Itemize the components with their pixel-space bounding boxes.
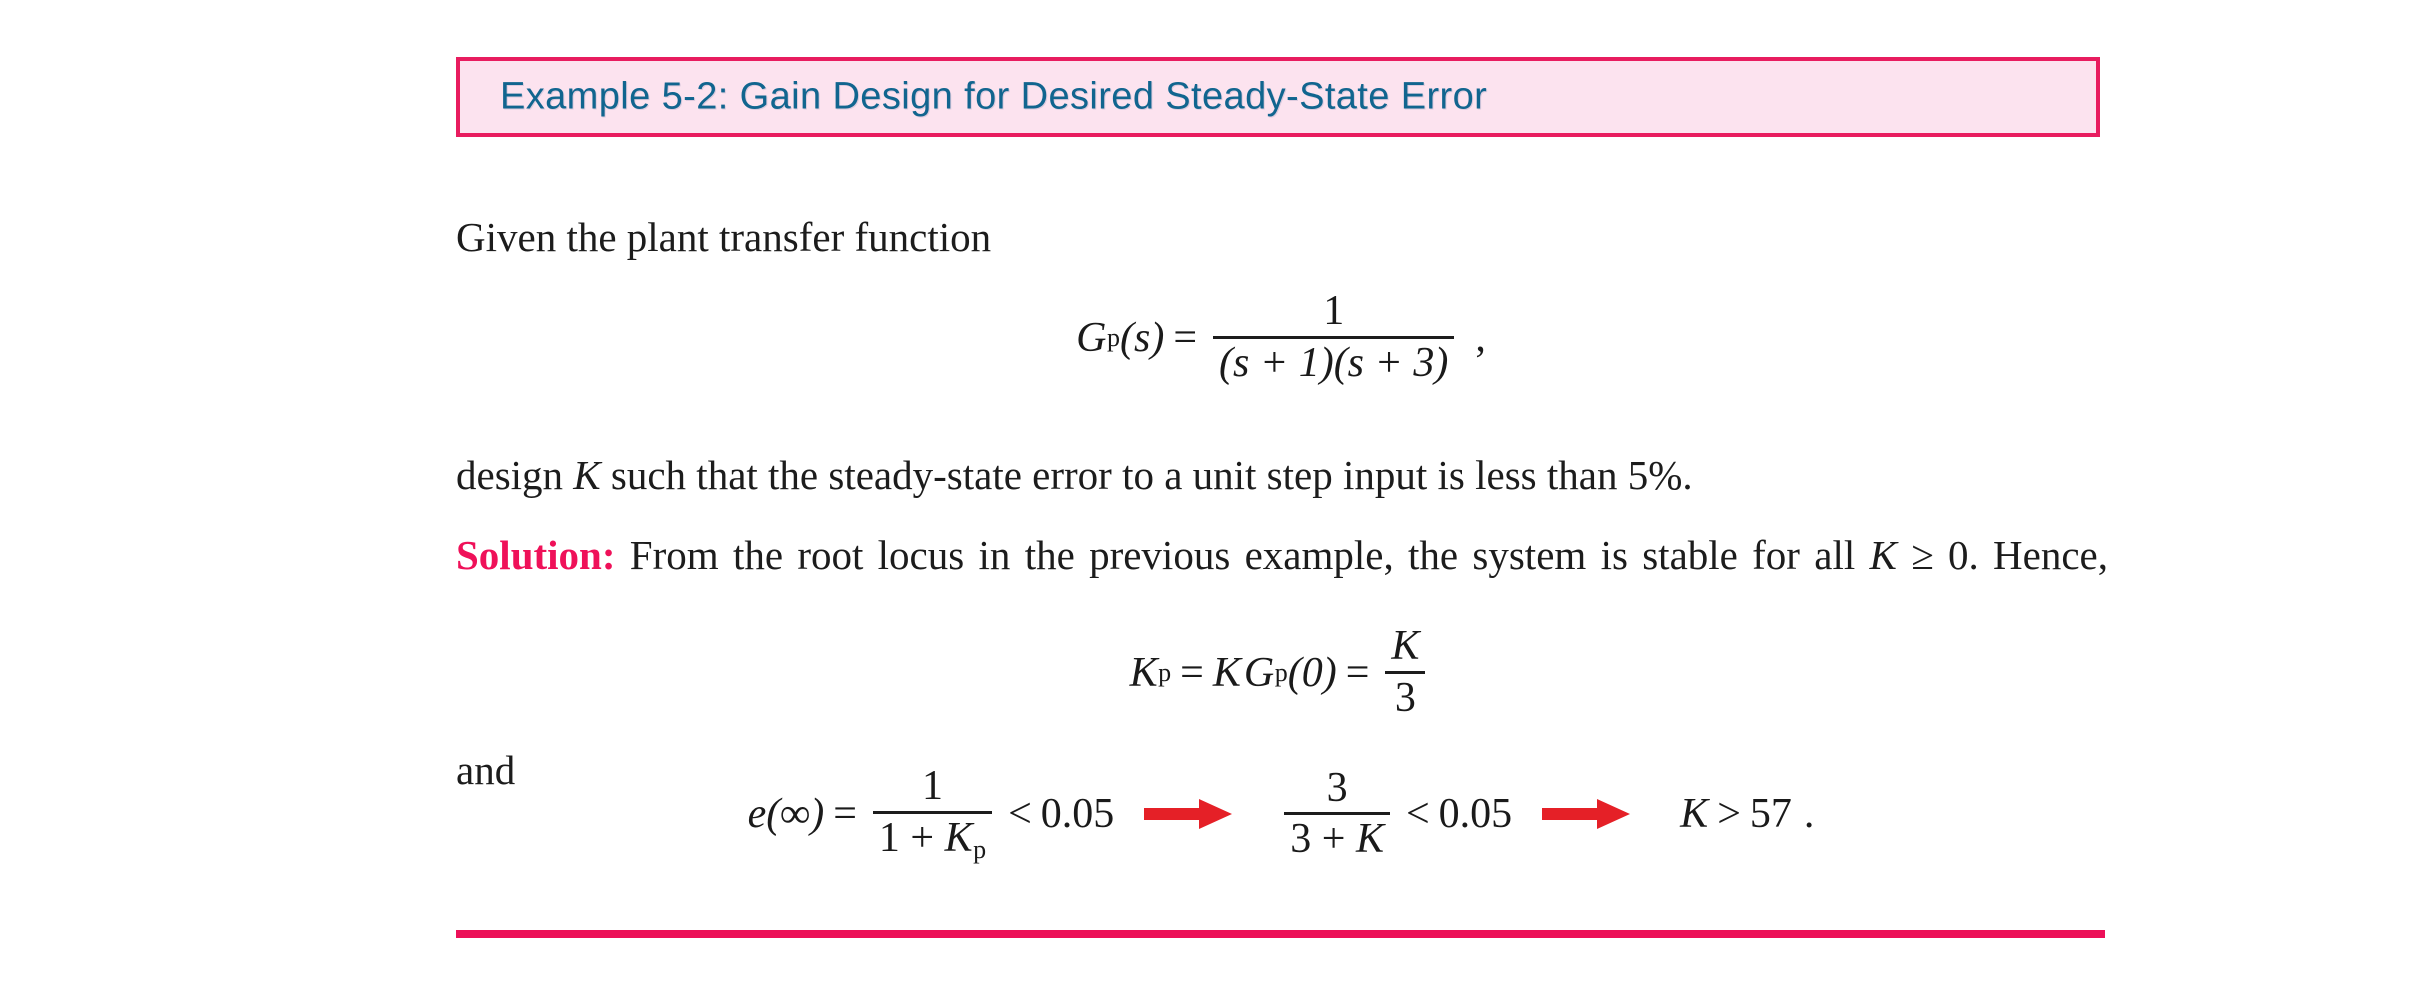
- e-result-gain-symbol: K: [1680, 790, 1708, 838]
- kp-denominator: 3: [1389, 674, 1422, 721]
- kp-subscript: p: [1158, 658, 1171, 688]
- design-post-text: such that the steady-state error to a un…: [601, 452, 1693, 498]
- e-fraction-1: 1 1 + Kp: [873, 765, 992, 864]
- kp-gp-subscript: p: [1275, 658, 1288, 688]
- solution-paragraph: Solution: From the root locus in the pre…: [456, 530, 2108, 630]
- design-gain-symbol: K: [573, 452, 600, 498]
- gp-numerator: 1: [1317, 290, 1350, 336]
- e-fraction-2: 3 3 + K: [1284, 767, 1390, 862]
- e-equals: =: [824, 790, 866, 838]
- kp-numerator: K: [1385, 625, 1425, 671]
- kp-gp-symbol: G: [1241, 649, 1274, 697]
- gp-denominator-body: s + 1)(s + 3): [1233, 340, 1448, 386]
- solution-gain-symbol: K: [1870, 532, 1897, 578]
- equation-position-error-constant: Kp = KGp(0) = K 3: [456, 625, 2106, 720]
- solution-label: Solution:: [456, 532, 616, 578]
- right-arrow-icon: [1144, 797, 1232, 831]
- e-fraction-2-denominator: 3 + K: [1284, 815, 1390, 862]
- bottom-accent-rule: [456, 930, 2105, 938]
- e-inequality-1: <: [999, 790, 1041, 838]
- gp-fraction: 1 (s + 1)(s + 3): [1213, 290, 1454, 385]
- page-title: Example 5-2: Gain Design for Desired Ste…: [500, 76, 1487, 119]
- gp-subscript: p: [1107, 323, 1120, 353]
- gp-argument: (s): [1120, 314, 1164, 362]
- kp-gp-argument: (0): [1288, 649, 1337, 697]
- e-result-inequality: >: [1708, 790, 1750, 838]
- solution-text-part-1: From the root locus in the previous exam…: [616, 532, 1870, 578]
- equation-plant-transfer-function: Gp(s) = 1 (s + 1)(s + 3) ,: [456, 290, 2106, 385]
- e-fraction-1-numerator: 1: [916, 765, 949, 811]
- e-fraction-2-numerator: 3: [1321, 767, 1354, 813]
- e-argument: (∞): [766, 790, 824, 838]
- slide-canvas: Example 5-2: Gain Design for Desired Ste…: [0, 0, 2412, 998]
- kp-symbol: K: [1130, 649, 1158, 697]
- equation-steady-state-error-chain: e(∞) = 1 1 + Kp < 0.05 3 3 + K < 0.05 K …: [456, 765, 2106, 864]
- kp-equals-1: =: [1171, 649, 1213, 697]
- solution-text-part-2: ≥ 0. Hence,: [1897, 532, 2108, 578]
- e-frac1-den-kp: K: [945, 815, 973, 861]
- kp-fraction: K 3: [1385, 625, 1425, 720]
- intro-paragraph: Given the plant transfer function: [456, 212, 2106, 262]
- e-fraction-1-denominator: 1 + Kp: [873, 814, 992, 864]
- e-bound-1: 0.05: [1041, 790, 1115, 838]
- e-inequality-2: <: [1397, 790, 1439, 838]
- gp-equals: =: [1164, 314, 1206, 362]
- e-result-period: .: [1792, 790, 1815, 838]
- e-frac2-den-const: 3 +: [1290, 816, 1356, 862]
- e-bound-2: 0.05: [1439, 790, 1513, 838]
- e-frac2-den-k: K: [1356, 816, 1384, 862]
- e-result-value: 57: [1750, 790, 1792, 838]
- e-frac1-den-kp-subscript: p: [973, 835, 986, 864]
- kp-gain-symbol: K: [1213, 649, 1241, 697]
- design-pre-text: design: [456, 452, 573, 498]
- gp-denominator: (s + 1)(s + 3): [1213, 339, 1454, 386]
- gp-trailing-comma: ,: [1461, 314, 1486, 362]
- kp-equals-2: =: [1337, 649, 1379, 697]
- design-requirement-paragraph: design K such that the steady-state erro…: [456, 450, 2136, 500]
- e-symbol: e: [748, 790, 767, 838]
- example-title-banner: Example 5-2: Gain Design for Desired Ste…: [456, 57, 2100, 137]
- gp-denominator-open: (: [1219, 340, 1233, 386]
- e-frac1-den-const: 1 +: [879, 815, 945, 861]
- right-arrow-icon-2: [1542, 797, 1630, 831]
- gp-symbol: G: [1076, 314, 1106, 362]
